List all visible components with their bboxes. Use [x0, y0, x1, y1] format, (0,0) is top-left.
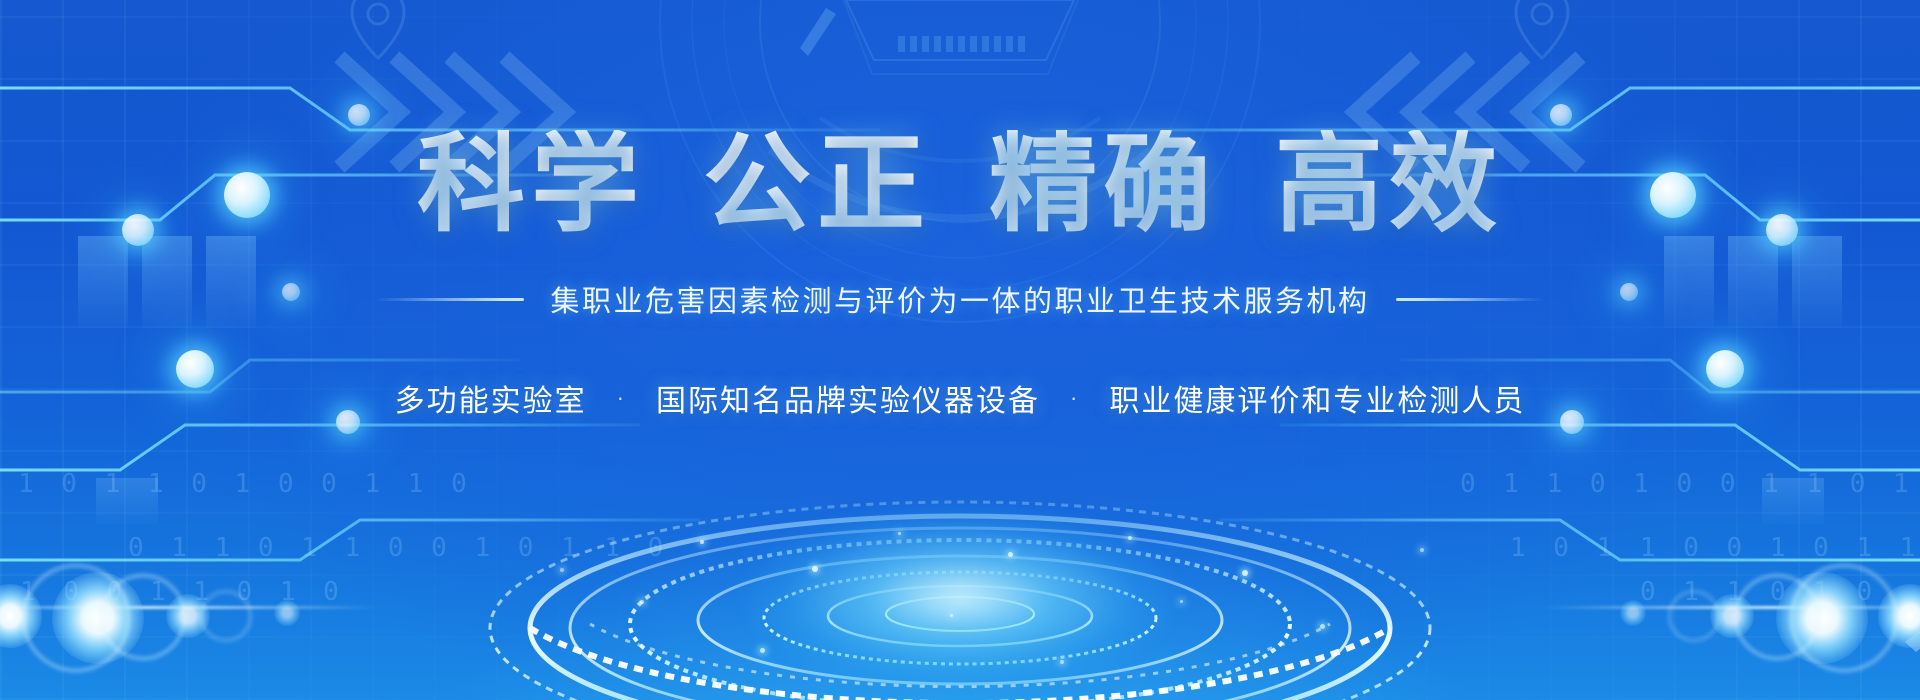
particle — [1420, 548, 1424, 552]
circuit-node — [1550, 104, 1572, 126]
radar-core-glow — [745, 507, 1175, 687]
headline-word-3: 精确 — [989, 130, 1217, 238]
shooting-star-streak — [1905, 600, 1920, 652]
circuit-node — [176, 350, 214, 388]
particle — [812, 566, 818, 572]
circuit-node — [1706, 350, 1744, 388]
headline-word-2: 公正 — [703, 130, 931, 238]
svg-text:1 0 0 1 1 0 1 0: 1 0 0 1 1 0 1 0 — [20, 577, 345, 607]
feature-item-3: 职业健康评价和专业检测人员 — [1109, 376, 1525, 420]
code-texture: 1 0 1 1 0 1 0 0 1 1 0 0 1 1 0 1 1 0 0 1 … — [18, 469, 1920, 607]
chevron-arrows-right — [1355, 62, 1575, 162]
feature-item-1: 多功能实验室 — [395, 376, 587, 420]
particle — [760, 648, 765, 653]
circuit-node — [1620, 283, 1638, 301]
particle — [1008, 552, 1013, 557]
circuit-node — [122, 214, 154, 246]
headline-word-4: 高效 — [1275, 130, 1503, 238]
hud-rings-top — [660, 0, 1260, 322]
circuit-node — [282, 283, 300, 301]
particle — [640, 600, 644, 604]
circuit-traces-right — [1040, 88, 1920, 560]
subtitle-dash-left — [376, 298, 524, 301]
banner-content: 科学 公正 精确 高效 集职业危害因素检测与评价为一体的职业卫生技术服务机构 多… — [0, 0, 1920, 700]
particle — [1128, 536, 1132, 540]
circuit-node — [1766, 214, 1798, 246]
subtitle-row: 集职业危害因素检测与评价为一体的职业卫生技术服务机构 — [376, 278, 1543, 320]
circuit-node — [1560, 410, 1584, 434]
outline-markers — [352, 0, 1568, 58]
chevron-arrows-left — [345, 62, 565, 162]
radar-disc-graphic — [470, 478, 1450, 700]
particle — [1320, 624, 1325, 629]
svg-text:0 1 1 0 1 1 0 0 1 0 1 1 0: 0 1 1 0 1 1 0 0 1 0 1 1 0 — [128, 533, 669, 563]
subtitle-text: 集职业危害因素检测与评价为一体的职业卫生技术服务机构 — [550, 278, 1369, 320]
particle — [898, 532, 901, 535]
circuit-traces-left — [0, 88, 880, 560]
headline: 科学 公正 精确 高效 — [417, 130, 1503, 238]
headline-word-1: 科学 — [417, 130, 645, 238]
particle — [1180, 600, 1183, 603]
particle — [700, 540, 704, 544]
feature-separator-1: · — [617, 385, 626, 411]
circuit-node — [224, 172, 270, 218]
tech-banner: 1 0 1 1 0 1 0 0 1 1 0 0 1 1 0 1 1 0 0 1 … — [0, 0, 1920, 700]
grid-texture — [0, 0, 1920, 700]
feature-item-2: 国际知名品牌实验仪器设备 — [656, 376, 1040, 420]
hud-bar-segments — [898, 36, 1025, 52]
particle — [560, 568, 564, 572]
feature-list: 多功能实验室 · 国际知名品牌实验仪器设备 · 职业健康评价和专业检测人员 — [395, 376, 1526, 420]
svg-text:1 0 1 1 0 0 1 0 1 1: 1 0 1 1 0 0 1 0 1 1 — [1510, 533, 1920, 563]
circuit-node — [348, 104, 370, 126]
circuit-graphics-layer: 1 0 1 1 0 1 0 0 1 1 0 0 1 1 0 1 1 0 0 1 … — [0, 0, 1920, 700]
particle — [1060, 660, 1064, 664]
circuit-node — [1650, 172, 1696, 218]
lens-flare-left — [0, 548, 380, 668]
subtitle-dash-right — [1396, 298, 1544, 301]
svg-text:0 1 1 0 1 0: 0 1 1 0 1 0 — [1640, 577, 1878, 607]
particle — [950, 614, 953, 617]
lens-flare-right — [1540, 548, 1920, 668]
svg-text:1 0 1 1 0 1 0 0 1 1 0: 1 0 1 1 0 1 0 0 1 1 0 — [18, 469, 473, 499]
radar-rings — [470, 478, 1450, 700]
svg-text:0 1 1 0 1 0 0 1 1 0 1: 0 1 1 0 1 0 0 1 1 0 1 — [1460, 469, 1915, 499]
feature-separator-2: · — [1070, 385, 1079, 411]
circuit-node — [336, 410, 360, 434]
particle — [1242, 570, 1248, 576]
hud-panels — [78, 236, 1842, 524]
